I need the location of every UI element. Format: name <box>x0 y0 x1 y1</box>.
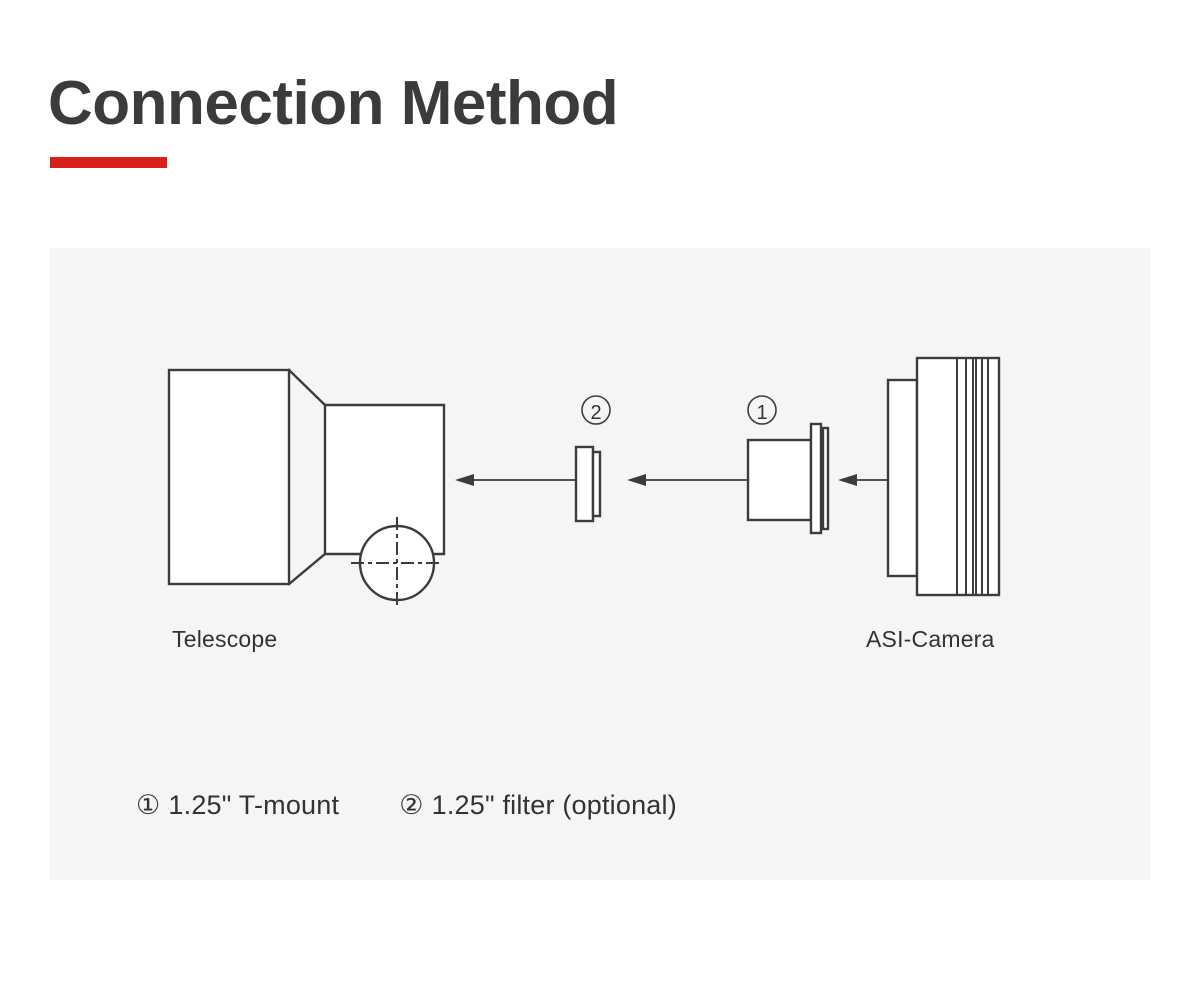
telescope-taper-top <box>289 370 325 405</box>
page-title: Connection Method <box>48 70 618 138</box>
asi-camera-part <box>888 358 999 595</box>
callout-filter-number: 2 <box>590 402 601 424</box>
filter-ring <box>593 452 600 516</box>
legend-item-2: ② 1.25" filter (optional) <box>399 790 677 821</box>
legend-item-1: ① 1.25" T-mount <box>136 790 339 821</box>
diagram-panel: 2 1 Telescope ASI-Camera ① 1.25" T-mount… <box>50 248 1150 880</box>
legend-marker-1-icon: ① <box>136 790 160 821</box>
tmount-part <box>748 424 828 533</box>
asi-camera-caption: ASI-Camera <box>866 626 995 653</box>
legend-label-1: 1.25" T-mount <box>168 790 339 821</box>
telescope-body <box>169 370 289 584</box>
tmount-flange-edge <box>823 428 828 529</box>
arrow-camera-to-tmount <box>838 474 888 486</box>
camera-nose <box>888 380 917 576</box>
telescope-caption: Telescope <box>172 626 277 653</box>
filter-body <box>576 447 593 521</box>
telescope-taper-bottom <box>289 554 325 584</box>
arrow-tmount-to-filter <box>627 474 750 486</box>
tmount-barrel <box>748 440 811 520</box>
legend-label-2: 1.25" filter (optional) <box>432 790 677 821</box>
filter-part <box>576 447 600 521</box>
legend-marker-2-icon: ② <box>399 790 423 821</box>
tmount-flange <box>811 424 821 533</box>
callout-tmount-number: 1 <box>756 402 767 424</box>
title-accent-underline <box>50 157 167 168</box>
connection-diagram: 2 1 <box>50 248 1150 880</box>
arrow-filter-to-telescope <box>455 474 576 486</box>
legend: ① 1.25" T-mount ② 1.25" filter (optional… <box>136 790 677 821</box>
